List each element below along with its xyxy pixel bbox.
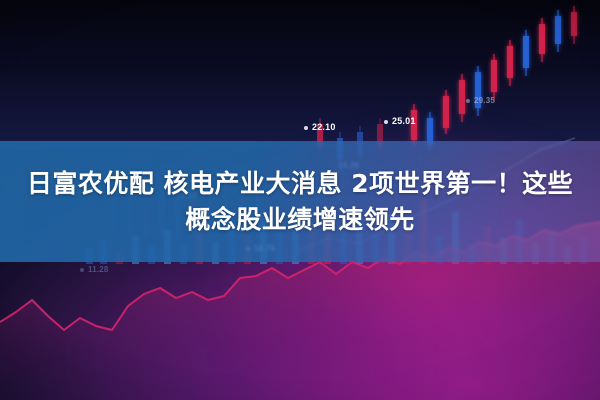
vignette-overlay (0, 0, 600, 400)
screenshot-root: 11.28 18.87 18.75 22.10 24.26 25.01 29.3… (0, 0, 600, 400)
